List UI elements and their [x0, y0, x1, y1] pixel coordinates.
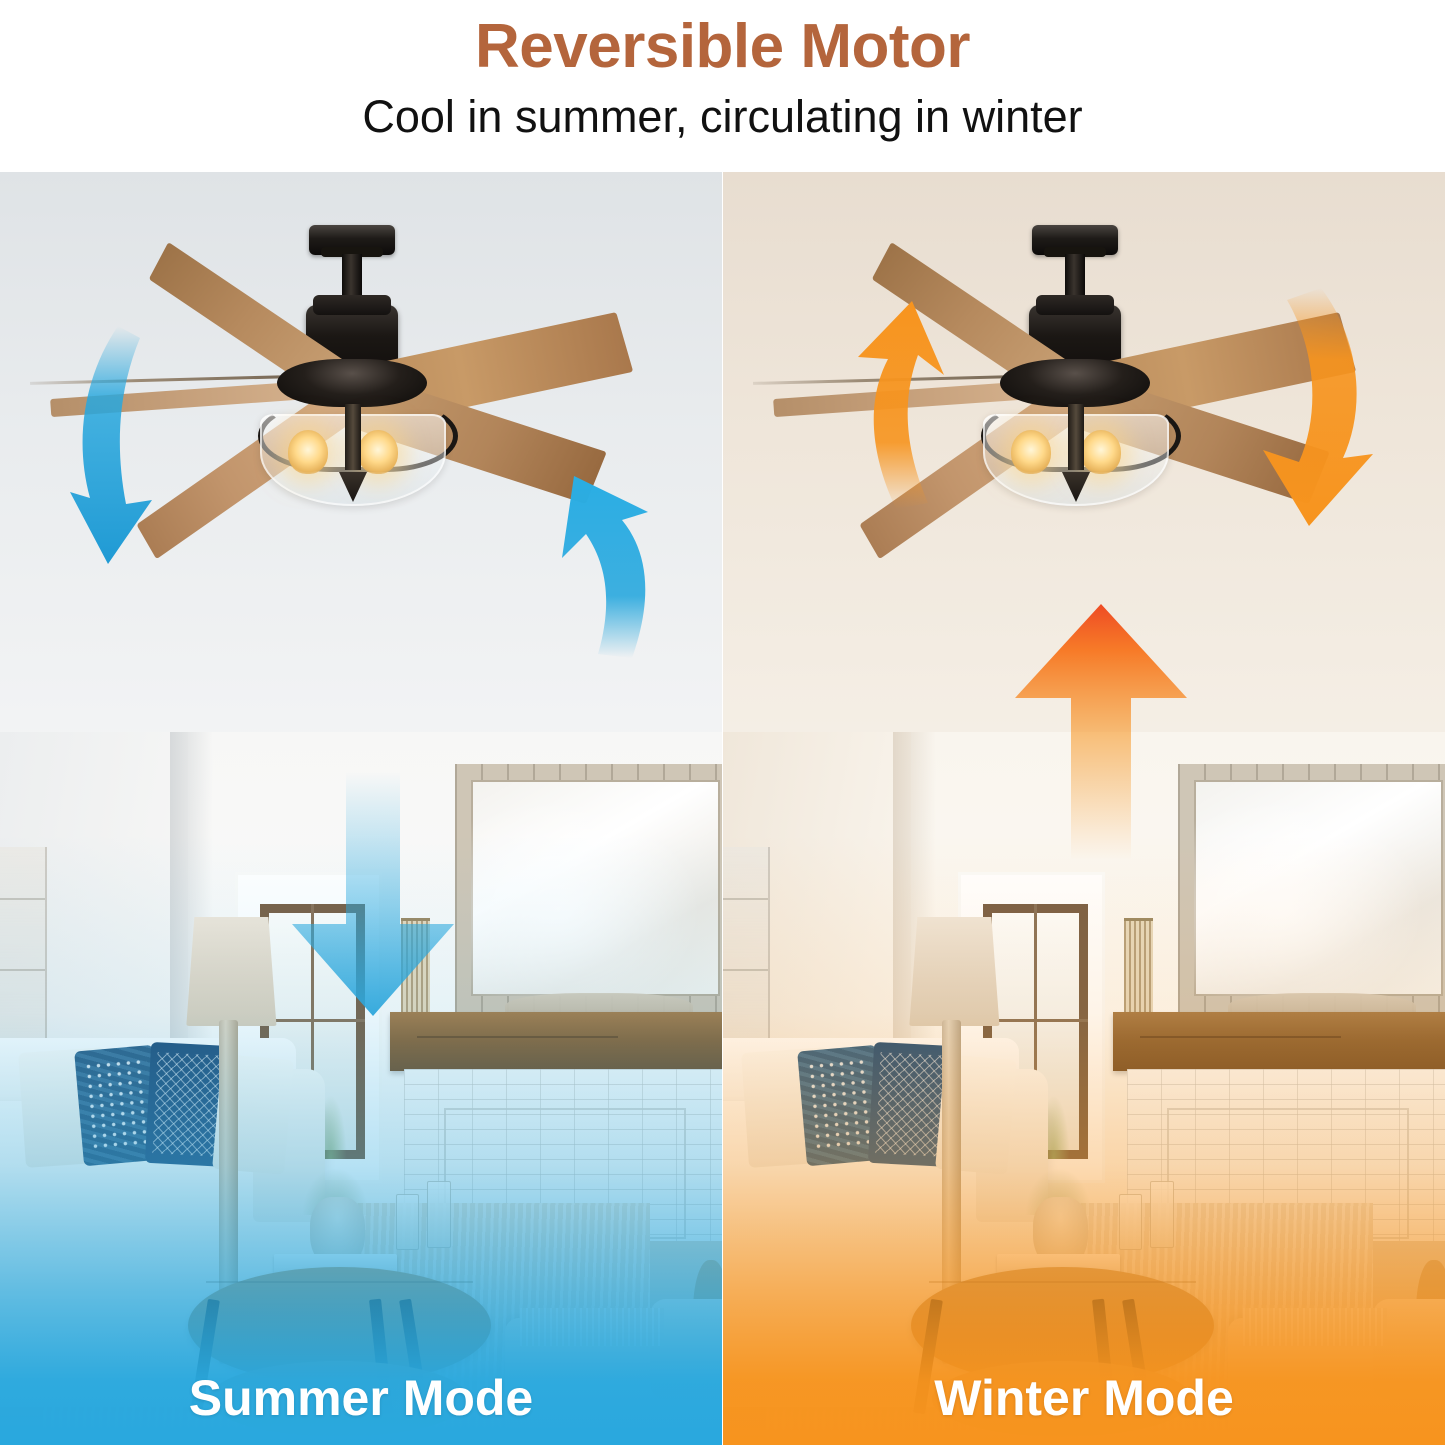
- edison-bulb: [358, 430, 398, 474]
- candle-small: [1119, 1194, 1142, 1250]
- fireplace-mantel: [390, 1012, 722, 1071]
- edison-bulb: [1011, 430, 1051, 474]
- header: Reversible Motor Cool in summer, circula…: [0, 0, 1445, 172]
- summer-mode-label: Summer Mode: [0, 1373, 722, 1423]
- winter-mode-label: Winter Mode: [723, 1373, 1445, 1423]
- candle-large: [427, 1181, 450, 1247]
- candle-small: [396, 1194, 419, 1250]
- floor-lamp-shade: [909, 917, 999, 1026]
- panel-summer[interactable]: Summer Mode: [0, 172, 722, 1445]
- fan-light-stem: [1068, 404, 1084, 470]
- page-subtitle: Cool in summer, circulating in winter: [362, 94, 1082, 139]
- fan-ceiling-mount: [1032, 225, 1118, 255]
- chair-throw-blanket: [520, 1308, 664, 1346]
- edison-bulb: [288, 430, 328, 474]
- candle-large: [1150, 1181, 1173, 1247]
- fireplace-mantel: [1113, 1012, 1445, 1071]
- room-scene-summer: [0, 172, 722, 1445]
- lantern-decor: [401, 918, 430, 1021]
- page-title: Reversible Motor: [475, 16, 970, 78]
- floor-lamp-shade: [186, 917, 276, 1026]
- fan-ceiling-mount: [309, 225, 395, 255]
- lantern-decor: [1124, 918, 1153, 1021]
- wall-mirror: [1178, 764, 1445, 1012]
- edison-bulb: [1081, 430, 1121, 474]
- fan-light-stem: [345, 404, 361, 470]
- chair-throw-blanket: [1243, 1308, 1387, 1346]
- infographic-page: Reversible Motor Cool in summer, circula…: [0, 0, 1445, 1445]
- panel-winter[interactable]: Winter Mode: [723, 172, 1445, 1445]
- room-scene-winter: [723, 172, 1445, 1445]
- wall-mirror: [455, 764, 722, 1012]
- panel-divider: [722, 172, 723, 1445]
